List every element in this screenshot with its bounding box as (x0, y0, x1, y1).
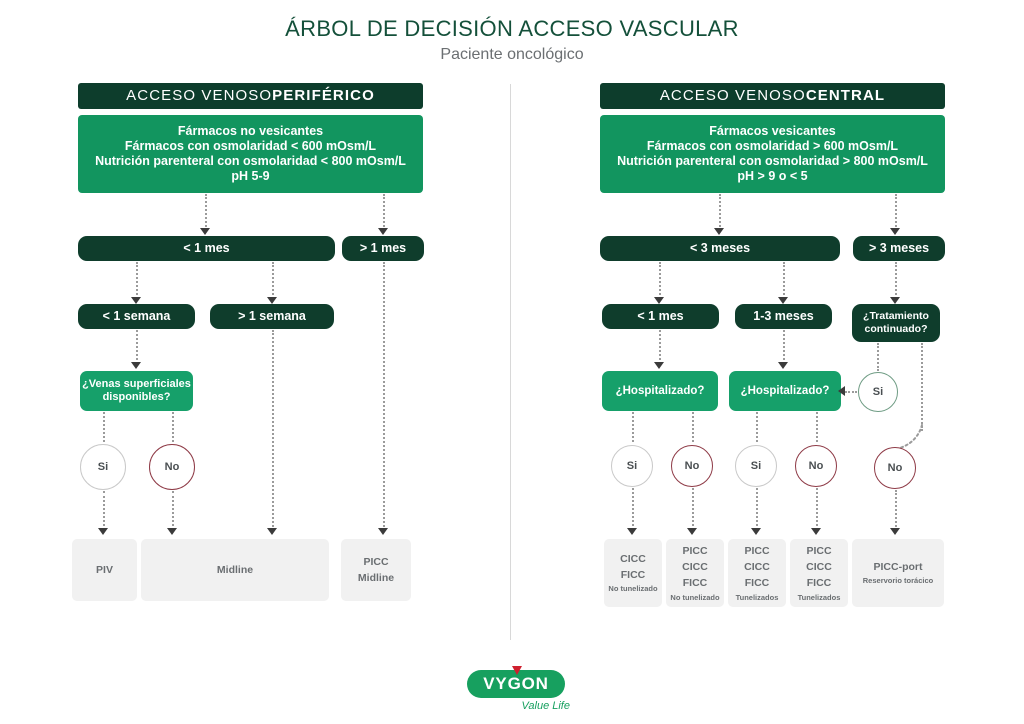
right-result-1-line-2: FICC (621, 567, 646, 583)
connector-right-tratamiento-to-no-vert (921, 343, 923, 431)
arrowhead-right-3meses (714, 228, 724, 235)
left-result-midline: Midline (141, 539, 329, 601)
right-node-lt1mes-label: < 1 mes (637, 309, 683, 324)
left-decision-no-label: No (165, 461, 180, 473)
right-branch-si-label: Si (873, 386, 883, 398)
arrowhead-right-gt3meses (890, 228, 900, 235)
arrowhead-right-result-5 (890, 528, 900, 535)
right-result-2-line-3: FICC (683, 575, 708, 591)
left-node-lt1semana-label: < 1 semana (103, 309, 171, 324)
left-node-lt1mes-label: < 1 mes (183, 241, 229, 256)
right-node-lt3meses[interactable]: < 3 meses (600, 236, 840, 261)
right-result-2: PICC CICC FICC No tunelizado (666, 539, 724, 607)
arrowhead-right-tratamiento (890, 297, 900, 304)
right-panel-header-prefix: ACCESO VENOSO (660, 87, 806, 105)
right-result-4: PICC CICC FICC Tunelizados (790, 539, 848, 607)
arrowhead-right-hosp2-left (838, 386, 845, 396)
connector-left-1sem-to-question (136, 330, 138, 364)
connector-right-1mes-to-hosp1 (659, 330, 661, 364)
connector-right-hosp1-to-no (692, 412, 694, 442)
connector-right-si1-to-result (632, 488, 634, 530)
connector-right-gt3meses-to-tratamiento (895, 262, 897, 299)
right-result-4-line-1: PICC (806, 543, 831, 559)
connector-left-si-to-piv (103, 491, 105, 530)
connector-left-no-to-midline (172, 491, 174, 530)
right-result-5-line-1: PICC-port (874, 559, 923, 575)
connector-left-gt1sem-to-result (272, 330, 274, 530)
left-node-gt1mes-label: > 1 mes (360, 241, 406, 256)
left-criteria-box: Fármacos no vesicantes Fármacos con osmo… (78, 115, 423, 193)
right-result-2-note: No tunelizado (670, 592, 719, 604)
right-node-1a3meses[interactable]: 1-3 meses (735, 304, 832, 329)
left-result-midline-label: Midline (217, 562, 253, 578)
right-branch-si[interactable]: Si (858, 372, 898, 412)
connector-right-13meses-to-hosp2 (783, 330, 785, 364)
left-criteria-line-1: Fármacos no vesicantes (178, 124, 323, 139)
connector-right-hosp1-to-si (632, 412, 634, 442)
arrowhead-right-13meses (778, 297, 788, 304)
right-result-3-line-3: FICC (745, 575, 770, 591)
arrowhead-left-result-picc (378, 528, 388, 535)
right-result-3-line-2: CICC (744, 559, 770, 575)
left-question-venas-label: ¿Venas superficiales disponibles? (80, 378, 193, 405)
arrowhead-left-1mes (200, 228, 210, 235)
right-node-lt3meses-label: < 3 meses (690, 241, 750, 256)
connector-right-hosp2-to-no (816, 412, 818, 442)
left-result-picc-midline: PICC Midline (341, 539, 411, 601)
right-decision-no-3-label: No (888, 462, 903, 474)
right-criteria-line-4: pH > 9 o < 5 (737, 169, 807, 184)
connector-left-gt1mes-to-result (383, 262, 385, 530)
right-node-tratamiento-continuado[interactable]: ¿Tratamiento continuado? (852, 304, 940, 342)
arrowhead-left-question (131, 362, 141, 369)
connector-left-crit-to-1mes (205, 194, 207, 230)
left-node-gt1semana[interactable]: > 1 semana (210, 304, 334, 329)
heart-icon (512, 666, 522, 675)
right-decision-si-1-label: Si (627, 460, 637, 472)
left-node-gt1semana-label: > 1 semana (238, 309, 306, 324)
right-result-4-line-3: FICC (807, 575, 832, 591)
right-criteria-line-1: Fármacos vesicantes (709, 124, 835, 139)
left-criteria-line-3: Nutrición parenteral con osmolaridad < 8… (95, 154, 406, 169)
connector-right-no1-to-result (692, 488, 694, 530)
right-question-hospitalizado-1[interactable]: ¿Hospitalizado? (602, 371, 718, 411)
vygon-logo-text: VYGON (483, 674, 548, 694)
arrowhead-right-result-1 (627, 528, 637, 535)
right-node-tratamiento-continuado-label: ¿Tratamiento continuado? (856, 310, 936, 336)
left-result-piv-label: PIV (96, 562, 113, 578)
right-decision-no-2-label: No (809, 460, 824, 472)
right-result-5: PICC-port Reservorio torácico (852, 539, 944, 607)
right-decision-si-2[interactable]: Si (735, 445, 777, 487)
arrowhead-left-gt1sem (267, 297, 277, 304)
left-panel-header-strong: PERIFÉRICO (272, 87, 375, 105)
left-node-gt1mes[interactable]: > 1 mes (342, 236, 424, 261)
left-result-piv: PIV (72, 539, 137, 601)
left-node-lt1mes[interactable]: < 1 mes (78, 236, 335, 261)
left-criteria-line-4: pH 5-9 (231, 169, 269, 184)
connector-right-hosp2-to-si (756, 412, 758, 442)
connector-left-crit-to-gt1mes (383, 194, 385, 230)
left-decision-si[interactable]: Si (80, 444, 126, 490)
arrowhead-right-result-3 (751, 528, 761, 535)
connector-right-si2-to-result (756, 488, 758, 530)
right-decision-no-2[interactable]: No (795, 445, 837, 487)
right-decision-si-2-label: Si (751, 460, 761, 472)
vygon-logo-tagline: Value Life (462, 700, 570, 712)
right-criteria-line-2: Fármacos con osmolaridad > 600 mOsm/L (647, 139, 898, 154)
connector-left-question-to-no (172, 412, 174, 442)
right-result-2-line-1: PICC (682, 543, 707, 559)
connector-right-no3-to-result (895, 490, 897, 530)
right-decision-si-1[interactable]: Si (611, 445, 653, 487)
right-question-hospitalizado-1-label: ¿Hospitalizado? (616, 384, 705, 398)
right-panel-header-strong: CENTRAL (806, 87, 885, 105)
arrowhead-left-result-midline (167, 528, 177, 535)
right-criteria-line-3: Nutrición parenteral con osmolaridad > 8… (617, 154, 928, 169)
right-result-4-line-2: CICC (806, 559, 832, 575)
arrowhead-right-hosp1 (654, 362, 664, 369)
connector-right-si-to-hosp2 (845, 391, 857, 393)
arrowhead-left-result-piv (98, 528, 108, 535)
left-decision-si-label: Si (98, 461, 108, 473)
right-question-hospitalizado-2-label: ¿Hospitalizado? (741, 384, 830, 398)
right-result-3-line-1: PICC (744, 543, 769, 559)
arrowhead-right-result-4 (811, 528, 821, 535)
right-node-gt3meses[interactable]: > 3 meses (853, 236, 945, 261)
connector-left-1mes-to-gt1sem (272, 262, 274, 299)
arrowhead-right-hosp2 (778, 362, 788, 369)
left-question-venas[interactable]: ¿Venas superficiales disponibles? (80, 371, 193, 411)
right-question-hospitalizado-2[interactable]: ¿Hospitalizado? (729, 371, 841, 411)
connector-right-3meses-to-1mes (659, 262, 661, 299)
right-result-1-line-1: CICC (620, 551, 646, 567)
left-panel-header-prefix: ACCESO VENOSO (126, 87, 272, 105)
left-criteria-line-2: Fármacos con osmolaridad < 600 mOsm/L (125, 139, 376, 154)
right-result-3: PICC CICC FICC Tunelizados (728, 539, 786, 607)
arrowhead-right-1mes (654, 297, 664, 304)
arrowhead-left-result-midline-b (267, 528, 277, 535)
connector-right-no2-to-result (816, 488, 818, 530)
right-result-1-note: No tunelizado (608, 583, 657, 595)
connector-right-tratamiento-to-si (877, 343, 879, 371)
right-panel-header: ACCESO VENOSO CENTRAL (600, 83, 945, 109)
arrowhead-left-gt1mes (378, 228, 388, 235)
left-panel-header: ACCESO VENOSO PERIFÉRICO (78, 83, 423, 109)
right-node-gt3meses-label: > 3 meses (869, 241, 929, 256)
right-decision-no-1[interactable]: No (671, 445, 713, 487)
right-decision-no-1-label: No (685, 460, 700, 472)
vygon-logo: VYGON Value Life (462, 666, 572, 718)
connector-left-1mes-to-1sem (136, 262, 138, 299)
left-decision-no[interactable]: No (149, 444, 195, 490)
page-title: ÁRBOL DE DECISIÓN ACCESO VASCULAR (0, 16, 1024, 42)
right-criteria-box: Fármacos vesicantes Fármacos con osmolar… (600, 115, 945, 193)
right-result-5-note: Reservorio torácico (863, 575, 933, 587)
arrowhead-right-result-2 (687, 528, 697, 535)
right-result-3-note: Tunelizados (736, 592, 779, 604)
right-node-1a3meses-label: 1-3 meses (753, 309, 813, 324)
arrowhead-left-1sem (131, 297, 141, 304)
right-result-2-line-2: CICC (682, 559, 708, 575)
left-node-lt1semana[interactable]: < 1 semana (78, 304, 195, 329)
right-node-lt1mes[interactable]: < 1 mes (602, 304, 719, 329)
connector-right-3meses-to-13meses (783, 262, 785, 299)
right-decision-no-3[interactable]: No (874, 447, 916, 489)
right-result-1: CICC FICC No tunelizado (604, 539, 662, 607)
right-result-4-note: Tunelizados (798, 592, 841, 604)
panel-divider (510, 84, 511, 640)
page-subtitle: Paciente oncológico (0, 46, 1024, 64)
connector-right-crit-to-3meses (719, 194, 721, 230)
connector-left-question-to-si (103, 412, 105, 442)
connector-right-crit-to-gt3meses (895, 194, 897, 230)
left-result-picc-midline-label: PICC Midline (358, 554, 394, 587)
